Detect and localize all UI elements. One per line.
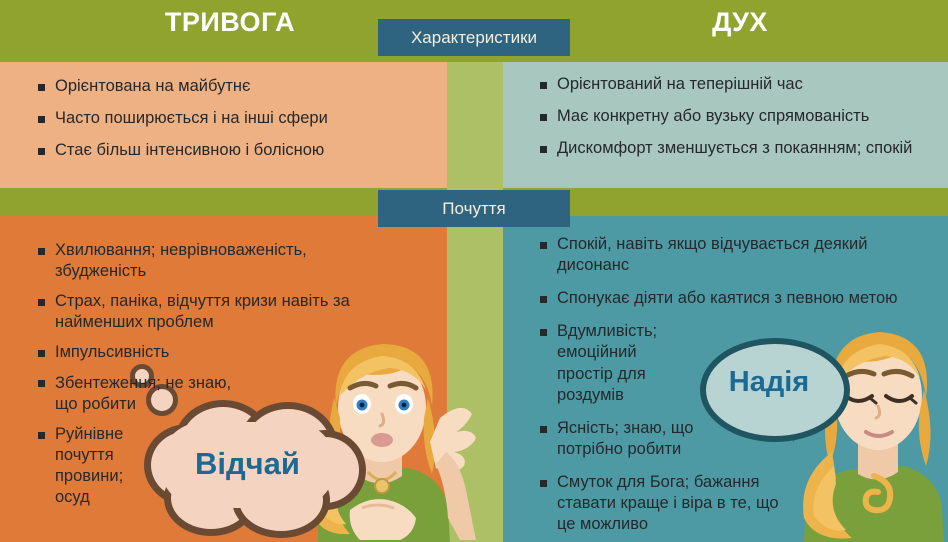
list-item: Хвилювання; неврівноваженість, збудженіс… [36, 240, 366, 282]
hope-label: Надія [700, 366, 838, 399]
list-item: Руйнівне почуття провини; осуд [36, 424, 147, 508]
list-item: Орієнтований на теперішній час [538, 74, 924, 95]
list-item: Часто поширюється і на інші сфери [36, 108, 416, 129]
list-item: Вдумливість; емоційний простір для розду… [538, 321, 675, 405]
characteristics-label: Характеристики [378, 19, 570, 56]
hope-speech-bubble: Надія [700, 338, 838, 430]
despair-label: Відчай [140, 446, 355, 482]
list-item: Стає більш інтенсивною і болісною [36, 140, 416, 161]
characteristics-anxiety-list: Орієнтована на майбутнє Часто поширюєтьс… [36, 76, 416, 172]
infographic-canvas: Відчай [0, 0, 948, 542]
list-item: Має конкретну або вузьку спрямованість [538, 106, 924, 127]
list-item: Збентеження; не знаю, що робити [36, 373, 235, 415]
characteristics-spirit-list: Орієнтований на теперішній час Має конкр… [538, 74, 924, 170]
list-item: Ясність; знаю, що потрібно робити [538, 418, 727, 460]
anxiety-column-title: ТРИВОГА [60, 7, 400, 38]
list-item: Орієнтована на майбутнє [36, 76, 416, 97]
list-item: Імпульсивність [36, 342, 366, 363]
list-item: Страх, паніка, відчуття кризи навіть за … [36, 291, 366, 333]
center-divider-strip-top [447, 62, 503, 188]
list-item: Смуток для Бога; бажання ставати краще і… [538, 472, 787, 535]
list-item: Спонукає діяти або каятися з певною мето… [538, 288, 898, 309]
list-item: Спокій, навіть якщо відчувається деякий … [538, 234, 898, 276]
list-item: Дискомфорт зменшується з покаянням; спок… [538, 138, 924, 159]
spirit-column-title: ДУХ [570, 7, 910, 38]
feelings-label: Почуття [378, 190, 570, 227]
